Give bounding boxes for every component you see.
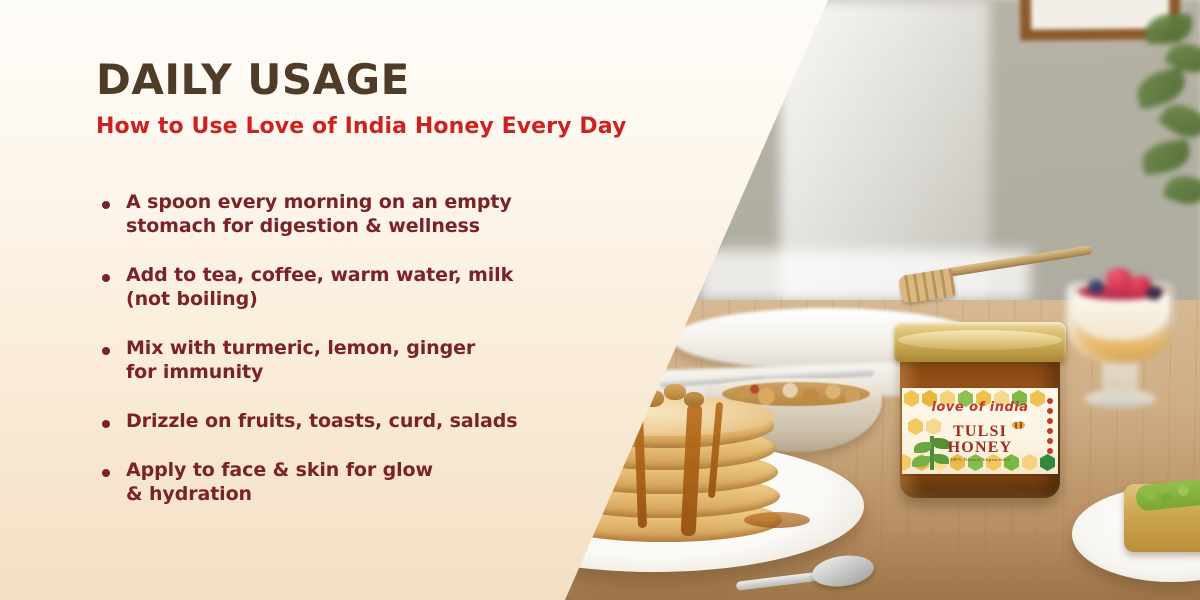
list-item-label: Add to tea, coffee, warm water, milk (no… bbox=[126, 264, 513, 312]
content-block: DAILY USAGE How to Use Love of India Hon… bbox=[96, 58, 696, 532]
bullet-dot-icon bbox=[102, 201, 110, 209]
page-title: DAILY USAGE bbox=[96, 58, 696, 102]
list-item: Apply to face & skin for glow & hydratio… bbox=[96, 459, 696, 507]
jar-label: love of india TULSI HONEY 100% Natural U… bbox=[902, 388, 1058, 474]
page-subtitle: How to Use Love of India Honey Every Day bbox=[96, 114, 696, 139]
honey-jar: love of india TULSI HONEY 100% Natural U… bbox=[894, 306, 1066, 498]
list-item: Drizzle on fruits, toasts, curd, salads bbox=[96, 410, 696, 434]
list-item: A spoon every morning on an empty stomac… bbox=[96, 191, 696, 239]
bullet-dot-icon bbox=[102, 469, 110, 477]
plant-foliage bbox=[1116, 10, 1200, 240]
list-item: Mix with turmeric, lemon, ginger for imm… bbox=[96, 337, 696, 385]
bullet-dot-icon bbox=[102, 347, 110, 355]
list-item-label: Mix with turmeric, lemon, ginger for imm… bbox=[126, 337, 475, 385]
jar-lid bbox=[894, 322, 1066, 362]
list-item-label: Drizzle on fruits, toasts, curd, salads bbox=[126, 410, 517, 434]
panna-cotta-dessert bbox=[1062, 262, 1180, 440]
list-item-label: A spoon every morning on an empty stomac… bbox=[126, 191, 512, 239]
infographic-canvas: love of india TULSI HONEY 100% Natural U… bbox=[0, 0, 1200, 600]
usage-list: A spoon every morning on an empty stomac… bbox=[96, 191, 696, 506]
label-dot-pattern bbox=[1047, 398, 1053, 454]
brand-name: love of india bbox=[902, 400, 1058, 415]
window-sill bbox=[700, 250, 1030, 300]
honey-pool bbox=[744, 512, 810, 528]
product-name: TULSI HONEY 100% Natural Unprocessed bbox=[902, 424, 1058, 463]
bullet-dot-icon bbox=[102, 420, 110, 428]
list-item-label: Apply to face & skin for glow & hydratio… bbox=[126, 459, 433, 507]
bullet-dot-icon bbox=[102, 274, 110, 282]
blueberry-icon bbox=[1088, 280, 1104, 294]
product-name-line2: HONEY bbox=[902, 440, 1058, 456]
list-item: Add to tea, coffee, warm water, milk (no… bbox=[96, 264, 696, 312]
blackberry-icon bbox=[1146, 286, 1162, 300]
product-tagline: 100% Natural Unprocessed bbox=[902, 458, 1058, 463]
product-name-line1: TULSI bbox=[902, 424, 1058, 440]
